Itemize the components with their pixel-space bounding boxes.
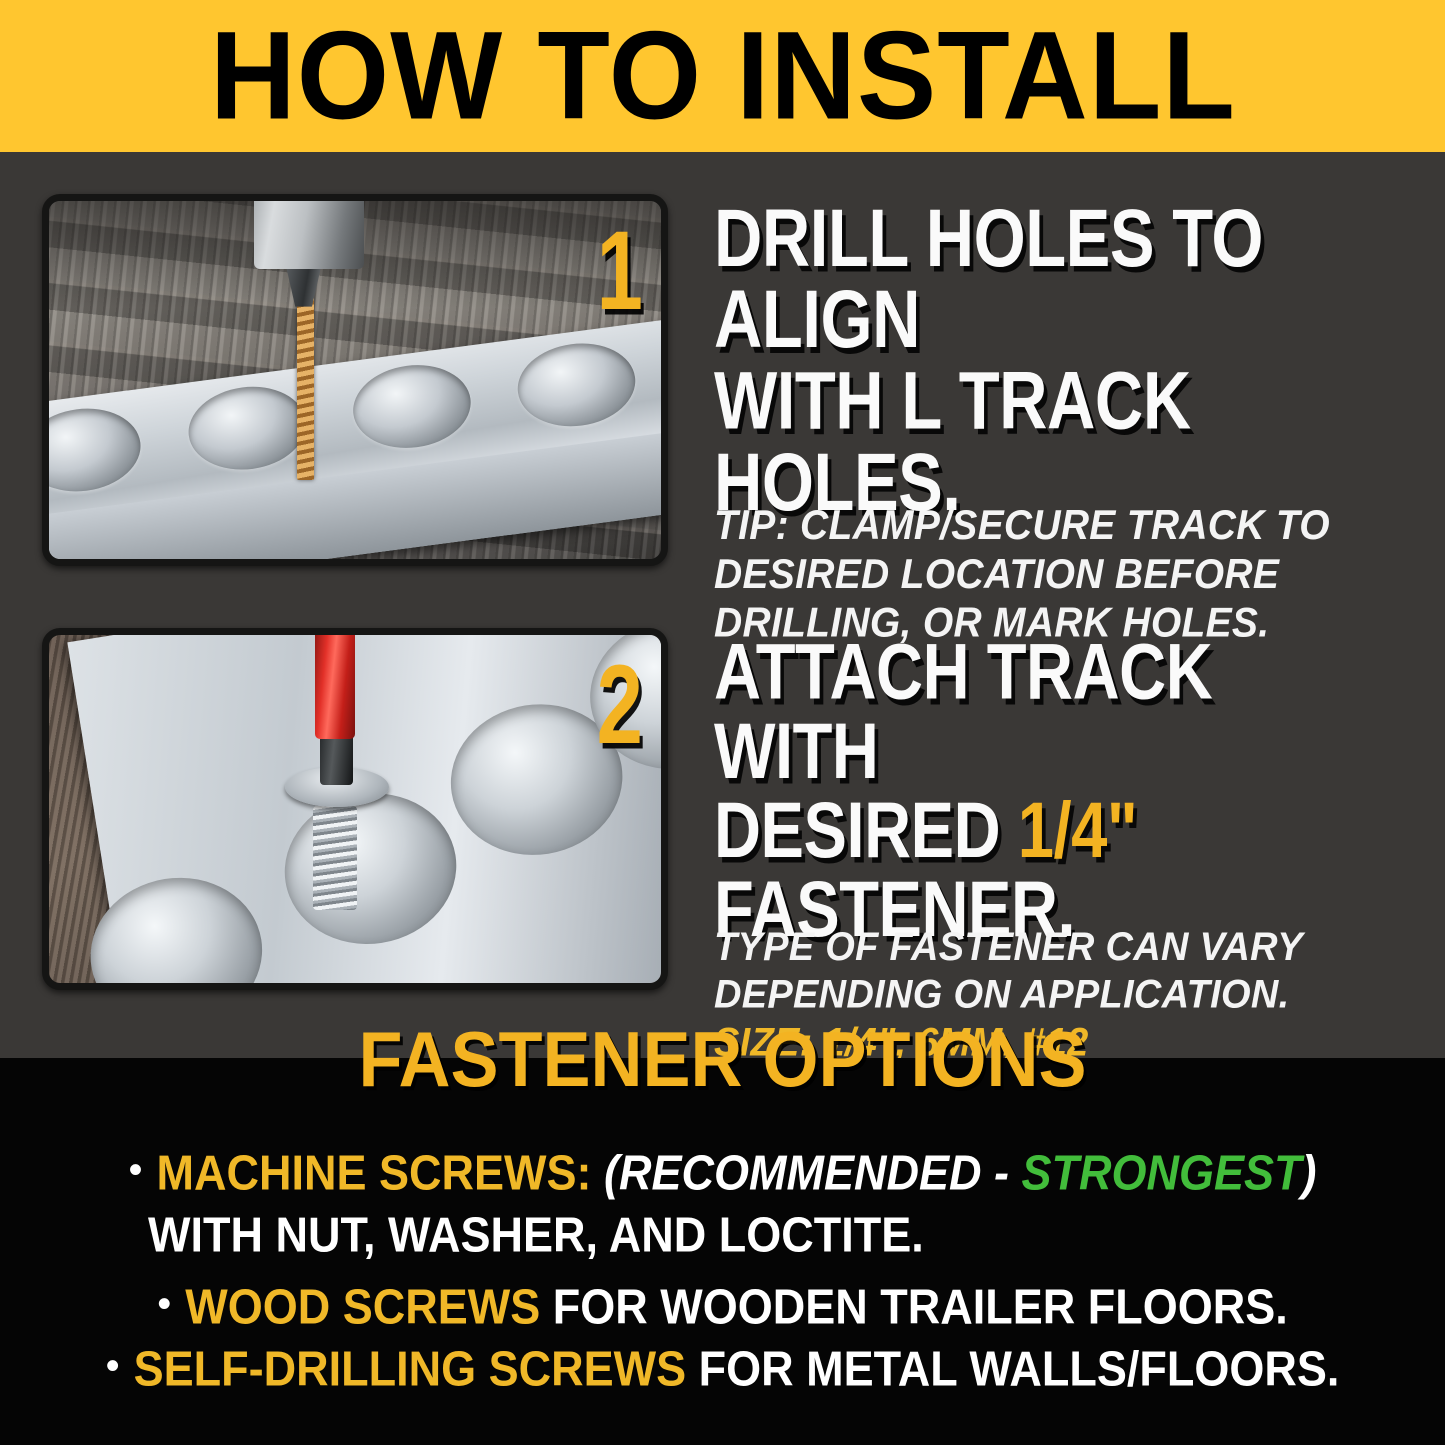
fastener-options-title: FASTENER OPTIONS: [0, 1021, 1445, 1099]
option-1-label: MACHINE SCREWS:: [157, 1144, 592, 1200]
step-2-headline: ATTACH TRACK WITH DESIRED 1/4" FASTENER.: [714, 632, 1365, 948]
option-1-recommended: (RECOMMENDED -: [592, 1144, 1022, 1200]
option-3-description: FOR METAL WALLS/FLOORS.: [686, 1340, 1339, 1396]
l-track-rail: [67, 635, 661, 983]
step-1-row: 1 DRILL HOLES TO ALIGN WITH L TRACK HOLE…: [0, 194, 1445, 640]
screw-shank: [313, 806, 357, 910]
step-1-headline-line-1: DRILL HOLES TO ALIGN: [714, 198, 1365, 361]
steps-section: 1 DRILL HOLES TO ALIGN WITH L TRACK HOLE…: [0, 152, 1445, 1058]
option-3-text: SELF-DRILLING SCREWS FOR METAL WALLS/FLO…: [134, 1338, 1340, 1400]
step-1-number-badge: 1: [597, 215, 643, 327]
drill-chuck: [254, 201, 364, 269]
step-2-number-badge: 2: [597, 649, 643, 761]
step-2-headline-pre: DESIRED: [714, 786, 1018, 874]
step-1-headline: DRILL HOLES TO ALIGN WITH L TRACK HOLES.: [714, 198, 1365, 523]
option-2-label: WOOD SCREWS: [185, 1278, 540, 1334]
list-item: • WOOD SCREWS FOR WOODEN TRAILER FLOORS.: [0, 1276, 1445, 1332]
step-2-text: ATTACH TRACK WITH DESIRED 1/4" FASTENER.…: [714, 628, 1414, 1059]
option-1-paren-close: ): [1302, 1144, 1317, 1200]
step-2-headline-line-1: ATTACH TRACK WITH: [714, 632, 1365, 790]
bullet-icon: •: [157, 1276, 171, 1332]
option-2-description: FOR WOODEN TRAILER FLOORS.: [540, 1278, 1287, 1334]
red-driver-handle: [315, 635, 355, 739]
fastener-options-list: • MACHINE SCREWS: (RECOMMENDED - STRONGE…: [0, 1142, 1445, 1400]
list-item: • MACHINE SCREWS: (RECOMMENDED - STRONGE…: [0, 1142, 1445, 1198]
step-2-photo: 2: [42, 628, 668, 990]
option-3-label: SELF-DRILLING SCREWS: [134, 1340, 686, 1396]
option-1-text: MACHINE SCREWS: (RECOMMENDED - STRONGEST…: [157, 1142, 1317, 1204]
bullet-icon: •: [106, 1338, 120, 1394]
step-2-note-line-2: DEPENDING ON APPLICATION.: [714, 972, 1414, 1020]
option-2-text: WOOD SCREWS FOR WOODEN TRAILER FLOORS.: [185, 1276, 1287, 1338]
page-title: HOW TO INSTALL: [209, 13, 1235, 138]
step-1-tip-line-1: TIP: CLAMP/SECURE TRACK TO: [714, 502, 1414, 551]
step-1-photo: 1: [42, 194, 668, 566]
step-1-headline-line-2: WITH L TRACK HOLES.: [714, 361, 1365, 524]
list-item: • SELF-DRILLING SCREWS FOR METAL WALLS/F…: [0, 1338, 1445, 1394]
option-1-continuation: WITH NUT, WASHER, AND LOCTITE.: [148, 1204, 924, 1266]
step-2-note-line-1: TYPE OF FASTENER CAN VARY: [714, 924, 1414, 972]
step-1-tip: TIP: CLAMP/SECURE TRACK TO DESIRED LOCAT…: [714, 502, 1414, 648]
how-to-install-infographic: HOW TO INSTALL: [0, 0, 1445, 1445]
step-1-tip-line-2: DESIRED LOCATION BEFORE: [714, 551, 1414, 600]
list-item-continuation: WITH NUT, WASHER, AND LOCTITE.: [0, 1204, 1445, 1260]
header-banner: HOW TO INSTALL: [0, 0, 1445, 152]
step-2-row: 2 ATTACH TRACK WITH DESIRED 1/4" FASTENE…: [0, 628, 1445, 1059]
step-1-text: DRILL HOLES TO ALIGN WITH L TRACK HOLES.…: [714, 194, 1414, 640]
option-1-strongest: STRONGEST: [1021, 1144, 1301, 1200]
bullet-icon: •: [128, 1142, 142, 1198]
step-2-fastener-size-highlight: 1/4": [1018, 786, 1138, 874]
fastener-options-section: FASTENER OPTIONS • MACHINE SCREWS: (RECO…: [0, 1058, 1445, 1445]
